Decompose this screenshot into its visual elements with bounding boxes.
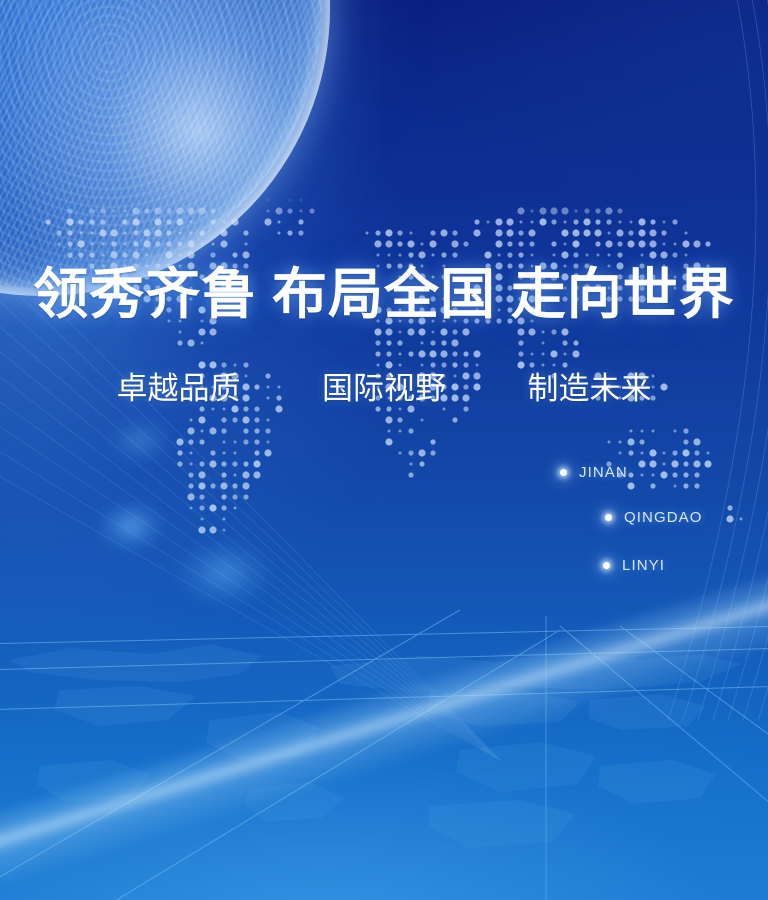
city-dot-marker-icon [560, 469, 567, 476]
subtitle-row: 卓越品质 国际视野 制造未来 [0, 370, 768, 408]
text-content: 领秀齐鲁 布局全国 走向世界 卓越品质 国际视野 制造未来 JINAN QING… [0, 0, 768, 900]
city-label: QINGDAO [624, 509, 703, 526]
headline: 领秀齐鲁 布局全国 走向世界 [0, 265, 768, 325]
hero-banner: 领秀齐鲁 布局全国 走向世界 卓越品质 国际视野 制造未来 JINAN QING… [0, 0, 768, 900]
city-label: LINYI [622, 557, 665, 574]
subtitle-item-1: 卓越品质 [117, 371, 241, 406]
city-marker-jinan: JINAN [560, 464, 628, 481]
city-marker-qingdao: QINGDAO [605, 509, 703, 526]
city-label: JINAN [579, 464, 628, 481]
city-dot-marker-icon [605, 514, 612, 521]
subtitle-item-3: 制造未来 [528, 371, 652, 406]
city-dot-marker-icon [603, 562, 610, 569]
subtitle-item-2: 国际视野 [322, 371, 446, 406]
city-marker-linyi: LINYI [603, 557, 665, 574]
